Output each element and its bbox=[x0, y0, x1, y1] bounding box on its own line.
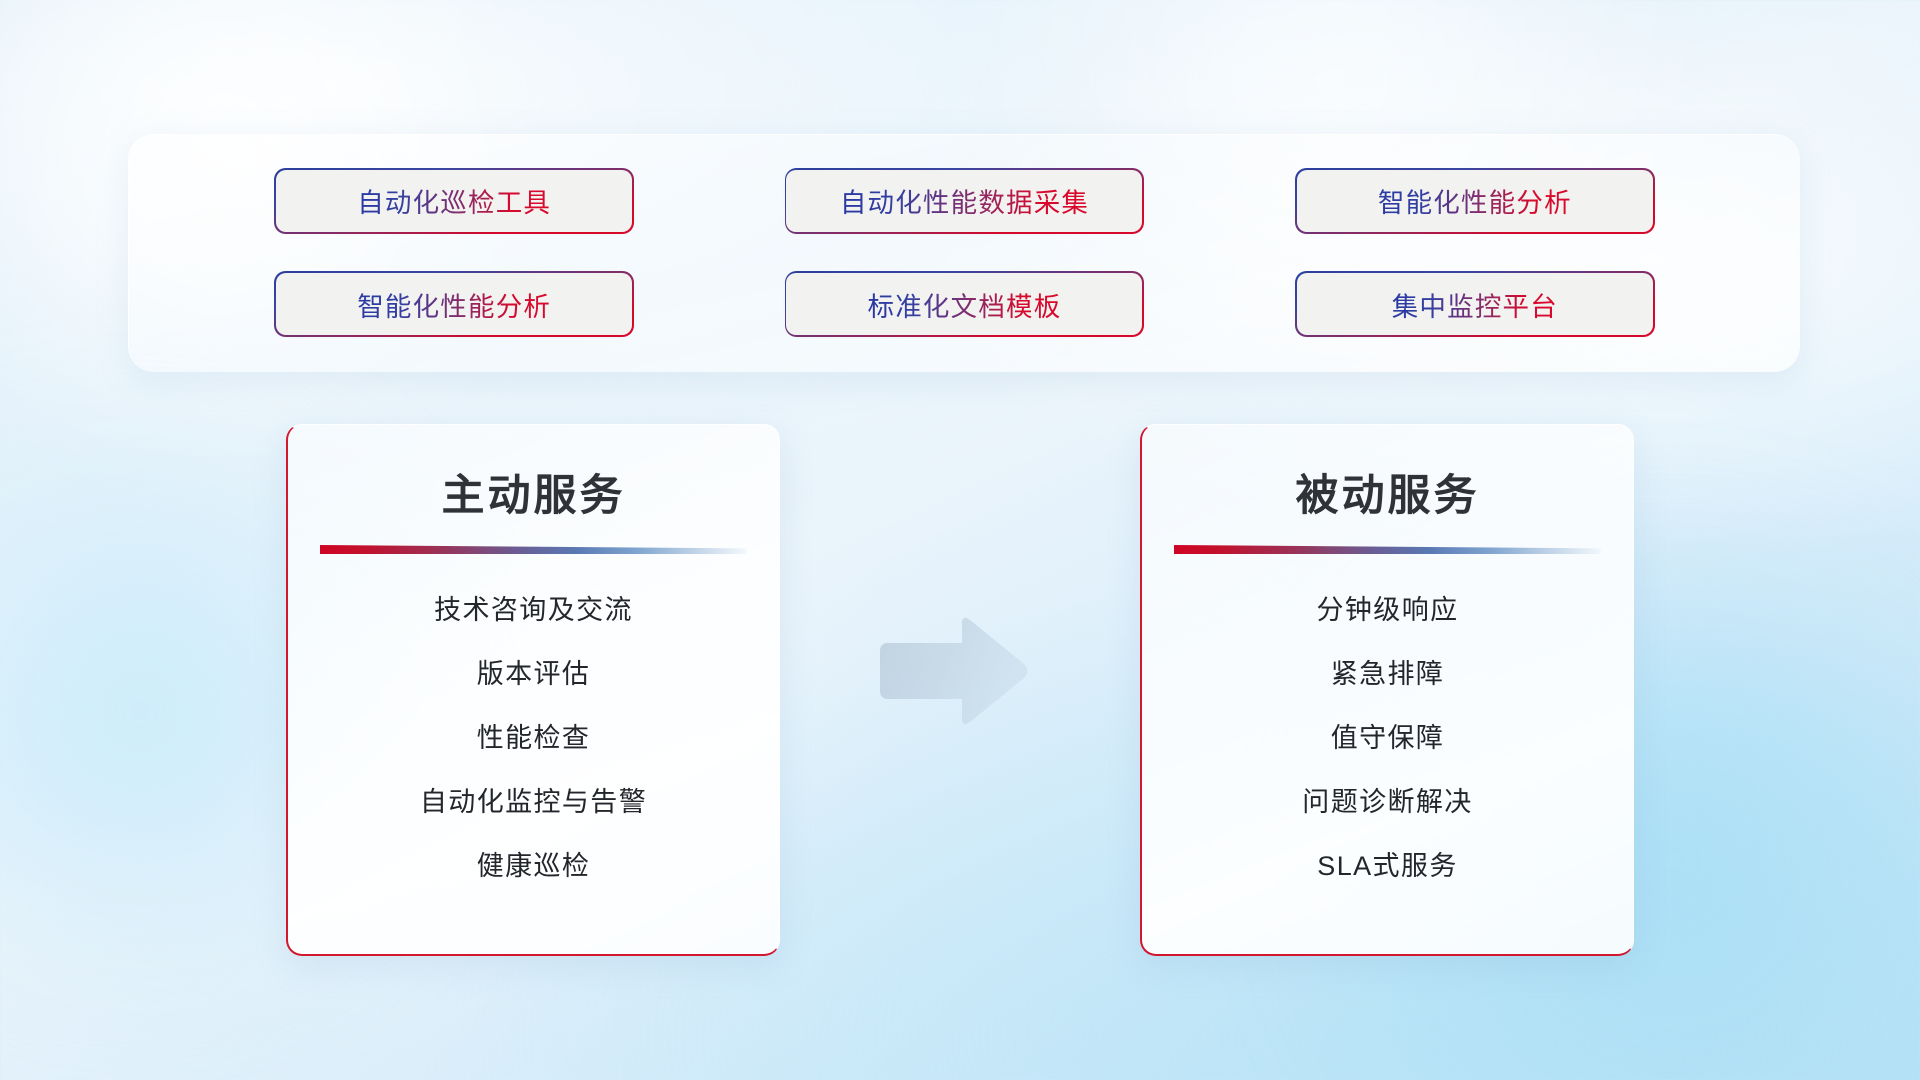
service-list-item: SLA式服务 bbox=[1317, 844, 1457, 883]
capability-chip-intelligent-performance-analysis-2[interactable]: 智能化性能分析 bbox=[276, 273, 632, 335]
capabilities-panel: 自动化巡检工具 自动化性能数据采集 智能化性能分析 智能化性能分析 标准化文档模… bbox=[128, 134, 1800, 372]
capability-chip-label: 智能化性能分析 bbox=[357, 285, 551, 324]
card-accent-divider bbox=[320, 545, 747, 554]
service-card-active: 主动服务 技术咨询及交流 版本评估 性能检查 自动化监控与告警 健康巡检 bbox=[286, 424, 780, 956]
service-list-item: 值守保障 bbox=[1331, 716, 1445, 755]
capability-chip-intelligent-performance-analysis-1[interactable]: 智能化性能分析 bbox=[1297, 170, 1653, 232]
service-item-list: 技术咨询及交流 版本评估 性能检查 自动化监控与告警 健康巡检 bbox=[288, 588, 779, 883]
card-divider-wrap bbox=[288, 545, 779, 554]
card-title: 主动服务 bbox=[288, 461, 779, 523]
capability-chip-grid: 自动化巡检工具 自动化性能数据采集 智能化性能分析 智能化性能分析 标准化文档模… bbox=[129, 135, 1800, 372]
capability-chip-automated-performance-data-collection[interactable]: 自动化性能数据采集 bbox=[786, 170, 1142, 232]
service-item-list: 分钟级响应 紧急排障 值守保障 问题诊断解决 SLA式服务 bbox=[1142, 588, 1633, 883]
capability-chip-label: 自动化巡检工具 bbox=[357, 181, 551, 220]
service-list-item: 版本评估 bbox=[477, 652, 591, 691]
capability-chip-label: 集中监控平台 bbox=[1392, 285, 1558, 324]
service-list-item: 问题诊断解决 bbox=[1302, 780, 1472, 819]
card-title: 被动服务 bbox=[1142, 461, 1633, 523]
capability-chip-label: 智能化性能分析 bbox=[1378, 181, 1572, 220]
capability-chip-automated-inspection-tool[interactable]: 自动化巡检工具 bbox=[276, 170, 632, 232]
card-accent-divider bbox=[1174, 545, 1601, 554]
service-list-item: 性能检查 bbox=[477, 716, 591, 755]
service-list-item: 技术咨询及交流 bbox=[434, 588, 633, 627]
service-list-item: 分钟级响应 bbox=[1317, 588, 1459, 627]
capability-chip-centralized-monitoring-platform[interactable]: 集中监控平台 bbox=[1297, 273, 1653, 335]
capability-chip-standardized-document-template[interactable]: 标准化文档模板 bbox=[786, 273, 1142, 335]
card-divider-wrap bbox=[1142, 545, 1633, 554]
service-list-item: 紧急排障 bbox=[1331, 652, 1445, 691]
capability-chip-label: 自动化性能数据采集 bbox=[840, 181, 1089, 220]
arrow-right-icon bbox=[874, 614, 1030, 728]
capability-chip-label: 标准化文档模板 bbox=[868, 285, 1062, 324]
service-list-item: 健康巡检 bbox=[477, 844, 591, 883]
service-card-passive: 被动服务 分钟级响应 紧急排障 值守保障 问题诊断解决 SLA式服务 bbox=[1140, 424, 1634, 956]
service-list-item: 自动化监控与告警 bbox=[420, 780, 647, 819]
